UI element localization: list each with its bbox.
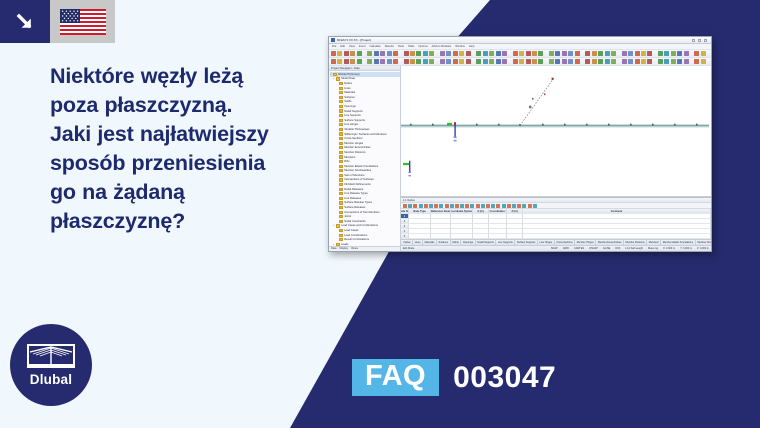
toolbar-button[interactable] [466,59,471,64]
table-toolbar-button[interactable] [450,204,454,208]
toolbar-button[interactable] [641,59,646,64]
toolbar-button[interactable] [519,51,524,56]
table-cell[interactable] [431,234,451,239]
folder-icon [339,169,343,172]
table-toolbar-button[interactable] [502,204,506,208]
status-item: LC1 Self-weight [625,247,643,250]
toolbar-button[interactable] [622,59,627,64]
folder-icon [339,146,343,149]
status-item: DXF [615,247,620,250]
navigator-item-label: Materials [344,91,355,94]
question-line: sposób przeniesienia [50,149,335,178]
toolbar-button[interactable] [337,59,342,64]
toolbar-button[interactable] [694,59,699,64]
table-toolbar-button[interactable] [486,204,490,208]
toolbar-button[interactable] [658,59,663,64]
folder-icon [339,100,343,103]
toolbar-button[interactable] [684,59,689,64]
language-flag-badge [50,0,115,43]
toolbar-button[interactable] [404,51,409,56]
folder-icon [339,165,343,168]
toolbar-button[interactable] [694,51,699,56]
menu-item[interactable]: Results [385,45,394,48]
toolbar-button[interactable] [367,51,372,56]
toolbar-button[interactable] [605,51,610,56]
app-toolbar-primary[interactable] [329,50,711,58]
toolbar-button[interactable] [423,59,428,64]
folder-icon [339,192,343,195]
table-toolbar-button[interactable] [424,204,428,208]
folder-icon [339,155,343,158]
toolbar-button[interactable] [440,51,445,56]
navigator-item-label: Openings [344,105,356,108]
toolbar-button[interactable] [568,51,573,56]
navigator-item-label: Lines [344,87,350,90]
navigator-tab-data[interactable]: Data [331,247,336,250]
toolbar-button[interactable] [387,59,392,64]
navigator-item-label: Member Nonlinearities [344,169,371,172]
navigator-item-label: Surface Supports [344,119,365,122]
model-geometry [401,66,711,196]
navigator-item-label: Member Divisions [344,151,365,154]
table-toolbar-button[interactable] [403,204,407,208]
dlubal-logo-text: Dlubal [30,372,72,387]
toolbar-button[interactable] [605,59,610,64]
toolbar-button[interactable] [387,51,392,56]
navigator-item-label: Result Combinations [344,238,369,241]
folder-icon [339,151,343,154]
status-item: Mass: kg [648,247,658,250]
toolbar-button[interactable] [641,51,646,56]
toolbar-button[interactable] [684,51,689,56]
navigator-item-label: Member Eccentricities [344,146,370,149]
table-cell[interactable] [489,234,507,239]
menu-item[interactable]: Insert [359,45,366,48]
folder-icon [339,160,343,163]
toolbar-button[interactable] [367,59,372,64]
table-toolbar-button[interactable] [413,204,417,208]
toolbar-button[interactable] [555,59,560,64]
folder-icon [339,87,343,90]
folder-icon [339,91,343,94]
navigator-item-label: Joints [344,215,351,218]
rfem-app-icon [331,38,335,42]
table-toolbar-button[interactable] [439,204,443,208]
toolbar-button[interactable] [526,51,531,56]
toolbar-button[interactable] [701,59,706,64]
toolbar-button[interactable] [446,59,451,64]
navigator-item-label: Surfaces [344,96,355,99]
folder-icon [339,142,343,145]
app-title: RFEM 5.XX.XX - [Project] [337,38,371,42]
folder-icon [339,188,343,191]
navigator-item-label: Members [344,156,355,159]
toolbar-button[interactable] [350,59,355,64]
folder-icon [339,114,343,117]
table-cell[interactable] [523,234,711,239]
folder-icon [339,119,343,122]
toolbar-button[interactable] [423,51,428,56]
folder-icon [339,220,343,223]
status-item: CARTES [574,247,584,250]
table-panel[interactable]: 1.1 Nodes Node No.Node TypeReference Nod… [401,197,711,245]
status-mode: Edit Mode [403,247,414,250]
toolbar-button[interactable] [476,59,481,64]
toolbar-button[interactable] [483,59,488,64]
question-line: go na żądaną [50,178,335,207]
toolbar-button[interactable] [519,59,524,64]
navigator-item-label: Line Supports [344,114,361,117]
table-toolbar-button[interactable] [465,204,469,208]
navigator-item-label: Surface Releases [344,206,365,209]
navigator-item-label: Nodal Releases [344,188,363,191]
navigator-item-label: FE Mesh Refinements [344,183,371,186]
folder-icon [339,174,343,177]
question-line: poza płaszczyzną. [50,91,335,120]
toolbar-button[interactable] [562,51,567,56]
toolbar-button[interactable] [664,51,669,56]
toolbar-button[interactable] [677,59,682,64]
table-cell[interactable] [451,234,473,239]
toolbar-button[interactable] [598,51,603,56]
faq-badge: FAQ 003047 [352,359,556,396]
toolbar-button[interactable] [416,59,421,64]
toolbar-button[interactable] [357,51,362,56]
table-cell[interactable] [507,234,523,239]
table-toolbar-button[interactable] [455,204,459,208]
navigator-item-label: Solids [344,100,351,103]
folder-icon [339,128,343,131]
question-text: Niektóre węzły leżą poza płaszczyzną. Ja… [50,62,335,235]
toolbar-button[interactable] [592,59,597,64]
status-item: GRID [563,247,569,250]
toolbar-button[interactable] [429,51,434,56]
table-toolbar-button[interactable] [522,204,526,208]
toolbar-button[interactable] [611,59,616,64]
project-navigator[interactable]: Project Navigator - Data +Dlubal.rf5 [Gr… [329,66,401,251]
app-body: Project Navigator - Data +Dlubal.rf5 [Gr… [329,66,711,251]
toolbar-button[interactable] [496,51,501,56]
navigator-item-label: Stiffenings / Surfaces and Members [344,133,387,136]
arrow-badge [0,0,50,43]
table-toolbar-button[interactable] [528,204,532,208]
menu-item[interactable]: View [349,45,355,48]
navigator-item-label: Nodes [344,82,352,85]
table-toolbar-button[interactable] [470,204,474,208]
faq-number-label: 003047 [453,363,556,393]
folder-icon [336,224,340,227]
toolbar-button[interactable] [380,59,385,64]
navigator-item-label: Load Combinations [344,234,367,237]
navigator-item-label: Member Hinges [344,142,363,145]
folder-icon [339,132,343,135]
table-toolbar-button[interactable] [434,204,438,208]
toolbar-button[interactable] [483,51,488,56]
toolbar-button[interactable] [549,59,554,64]
toolbar-button[interactable] [337,51,342,56]
navigator-item-label: Model Data [341,77,355,80]
navigator-item-label: Ribs [344,160,349,163]
menu-item[interactable]: Edit [340,45,345,48]
toolbar-button[interactable] [575,59,580,64]
window-controls[interactable] [692,39,709,42]
app-titlebar: RFEM 5.XX.XX - [Project] [329,37,711,44]
navigator-tab-views[interactable]: Views [351,247,358,250]
status-item: Z: 0.000 m [697,247,709,250]
folder-icon [339,197,343,200]
toolbar-button[interactable] [374,51,379,56]
table-toolbar-button[interactable] [512,204,516,208]
navigator-item-label: Load Cases and Combinations [341,224,378,227]
dlubal-logo: Dlubal [10,324,92,406]
toolbar-button[interactable] [429,59,434,64]
table-toolbar-button[interactable] [429,204,433,208]
toolbar-button[interactable] [350,51,355,56]
table-toolbar-button[interactable] [481,204,485,208]
folder-icon [339,105,343,108]
menu-item[interactable]: Calculate [370,45,381,48]
folder-icon [339,123,343,126]
folder-icon [339,178,343,181]
folder-icon [339,96,343,99]
folder-icon [336,77,340,80]
menu-item[interactable]: Tools [398,45,404,48]
toolbar-button[interactable] [446,51,451,56]
navigator-item-label: Connections of Two Members [344,211,380,214]
navigator-item-label: Line Release Types [344,192,368,195]
table-toolbar-button[interactable] [507,204,511,208]
folder-icon [339,201,343,204]
navigator-item-label: Cross-Sections [344,137,362,140]
menu-item[interactable]: Window [455,45,465,48]
frame-truss-icon [27,343,75,369]
toolbar-button[interactable] [344,51,349,56]
table-toolbar-button[interactable] [533,204,537,208]
navigator-item-label: Intersections of Surfaces [344,178,374,181]
menu-item[interactable]: File [332,45,336,48]
toolbar-button[interactable] [671,51,676,56]
maximize-button[interactable] [698,39,701,42]
navigator-item-label: Member Elastic Foundations [344,165,378,168]
minimize-button[interactable] [692,39,695,42]
status-item: SNAP [551,247,558,250]
model-viewport[interactable] [401,66,711,197]
navigator-item-label: Line Releases [344,197,361,200]
toolbar-button[interactable] [393,59,398,64]
toolbar-button[interactable] [622,51,627,56]
toolbar-button[interactable] [647,59,652,64]
toolbar-button[interactable] [357,59,362,64]
table-cell[interactable] [473,234,489,239]
folder-icon [339,109,343,112]
status-item: OSNAP [589,247,598,250]
toolbar-button[interactable] [555,51,560,56]
navigator-item-label: Load Cases [344,229,358,232]
toolbar-button[interactable] [496,59,501,64]
menu-item[interactable]: Options [418,45,427,48]
status-right-group: SNAPGRIDCARTESOSNAPGLINEDXFLC1 Self-weig… [551,247,709,250]
toolbar-button[interactable] [453,59,458,64]
rfem-application-window[interactable]: RFEM 5.XX.XX - [Project] File Edit View … [328,36,712,252]
toolbar-button[interactable] [393,51,398,56]
toolbar-button[interactable] [502,51,507,56]
navigator-item-label: Line Hinges [344,123,358,126]
question-line: Niektóre węzły leżą [50,62,335,91]
question-line: Jaki jest najłatwiejszy [50,120,335,149]
toolbar-button[interactable] [410,51,415,56]
navigator-item-label: Nodal Supports [344,110,363,113]
toolbar-button[interactable] [331,59,336,64]
folder-icon [339,211,343,214]
menu-item[interactable]: Table [408,45,414,48]
navigator-tabs[interactable]: Data Display Views [329,246,400,251]
toolbar-button[interactable] [585,51,590,56]
toolbar-button[interactable] [701,51,706,56]
folder-icon [339,137,343,140]
table-toolbar-button[interactable] [408,204,412,208]
close-button[interactable] [704,39,707,42]
toolbar-button[interactable] [532,51,537,56]
table-toolbar-button[interactable] [419,204,423,208]
table-toolbar-button[interactable] [445,204,449,208]
toolbar-button[interactable] [575,51,580,56]
toolbar-button[interactable] [677,51,682,56]
table-toolbar-button[interactable] [476,204,480,208]
toolbar-button[interactable] [466,51,471,56]
navigator-item-label: Dlubal.rf5 [Group] [338,73,359,76]
folder-icon [339,82,343,85]
table-row[interactable]: 5 [401,234,711,239]
toolbar-button[interactable] [380,51,385,56]
us-flag-icon [60,9,106,35]
toolbar-button[interactable] [592,51,597,56]
toolbar-button[interactable] [489,51,494,56]
toolbar-button[interactable] [611,51,616,56]
navigator-item-label: Sets of Members [344,174,364,177]
toolbar-button[interactable] [410,59,415,64]
toolbar-button[interactable] [416,51,421,56]
status-item: Y: 0.000 m [680,247,692,250]
navigator-tree[interactable]: +Dlubal.rf5 [Group]+Model DataNodesLines… [329,71,400,246]
nodes-table[interactable]: Node No.Node TypeReference NodeCoordinat… [401,209,711,239]
app-toolbar-secondary[interactable] [329,58,711,66]
toolbar-button[interactable] [344,59,349,64]
app-main-area: 1.1 Nodes Node No.Node TypeReference Nod… [401,66,711,251]
toolbar-button[interactable] [658,51,663,56]
table-toolbar-button[interactable] [491,204,495,208]
folder-icon [333,73,337,76]
status-item: X: 0.000 m [663,247,675,250]
arrow-down-right-icon [14,11,36,33]
toolbar-button[interactable] [562,59,567,64]
table-row-index[interactable]: 5 [401,234,409,239]
toolbar-button[interactable] [549,51,554,56]
folder-icon [339,183,343,186]
faq-tag-label: FAQ [352,359,439,396]
toolbar-button[interactable] [459,59,464,64]
table-toolbar-button[interactable] [517,204,521,208]
question-line: płaszczyznę? [50,207,335,236]
toolbar-button[interactable] [513,51,518,56]
toolbar-button[interactable] [628,59,633,64]
navigator-tab-display[interactable]: Display [339,247,348,250]
toolbar-button[interactable] [374,59,379,64]
toolbar-button[interactable] [628,51,633,56]
status-item: GLINE [603,247,611,250]
folder-icon [339,229,343,232]
toolbar-button[interactable] [453,51,458,56]
toolbar-button[interactable] [404,59,409,64]
toolbar-button[interactable] [489,59,494,64]
toolbar-button[interactable] [513,59,518,64]
toolbar-button[interactable] [532,59,537,64]
toolbar-button[interactable] [568,59,573,64]
toolbar-button[interactable] [635,51,640,56]
navigator-item-label: Nodal Constraints [344,220,365,223]
table-cell[interactable] [409,234,431,239]
toolbar-button[interactable] [459,51,464,56]
toolbar-button[interactable] [598,59,603,64]
folder-icon [339,238,343,241]
toolbar-button[interactable] [538,51,543,56]
toolbar-button[interactable] [538,59,543,64]
menu-item[interactable]: Add-on Modules [432,45,452,48]
menu-item[interactable]: Help [469,45,475,48]
toolbar-button[interactable] [647,51,652,56]
navigator-item-label: Variable Thicknesses [344,128,369,131]
app-statusbar: Edit Mode SNAPGRIDCARTESOSNAPGLINEDXFLC1… [401,245,711,251]
toolbar-button[interactable] [671,59,676,64]
toolbar-button[interactable] [440,59,445,64]
toolbar-button[interactable] [502,59,507,64]
folder-icon [339,215,343,218]
toolbar-button[interactable] [664,59,669,64]
toolbar-button[interactable] [331,51,336,56]
toolbar-button[interactable] [635,59,640,64]
toolbar-button[interactable] [526,59,531,64]
table-toolbar-button[interactable] [460,204,464,208]
folder-icon [339,234,343,237]
toolbar-button[interactable] [476,51,481,56]
table-toolbar-button[interactable] [496,204,500,208]
folder-icon [339,206,343,209]
navigator-item-label: Surface Release Types [344,201,372,204]
toolbar-button[interactable] [585,59,590,64]
